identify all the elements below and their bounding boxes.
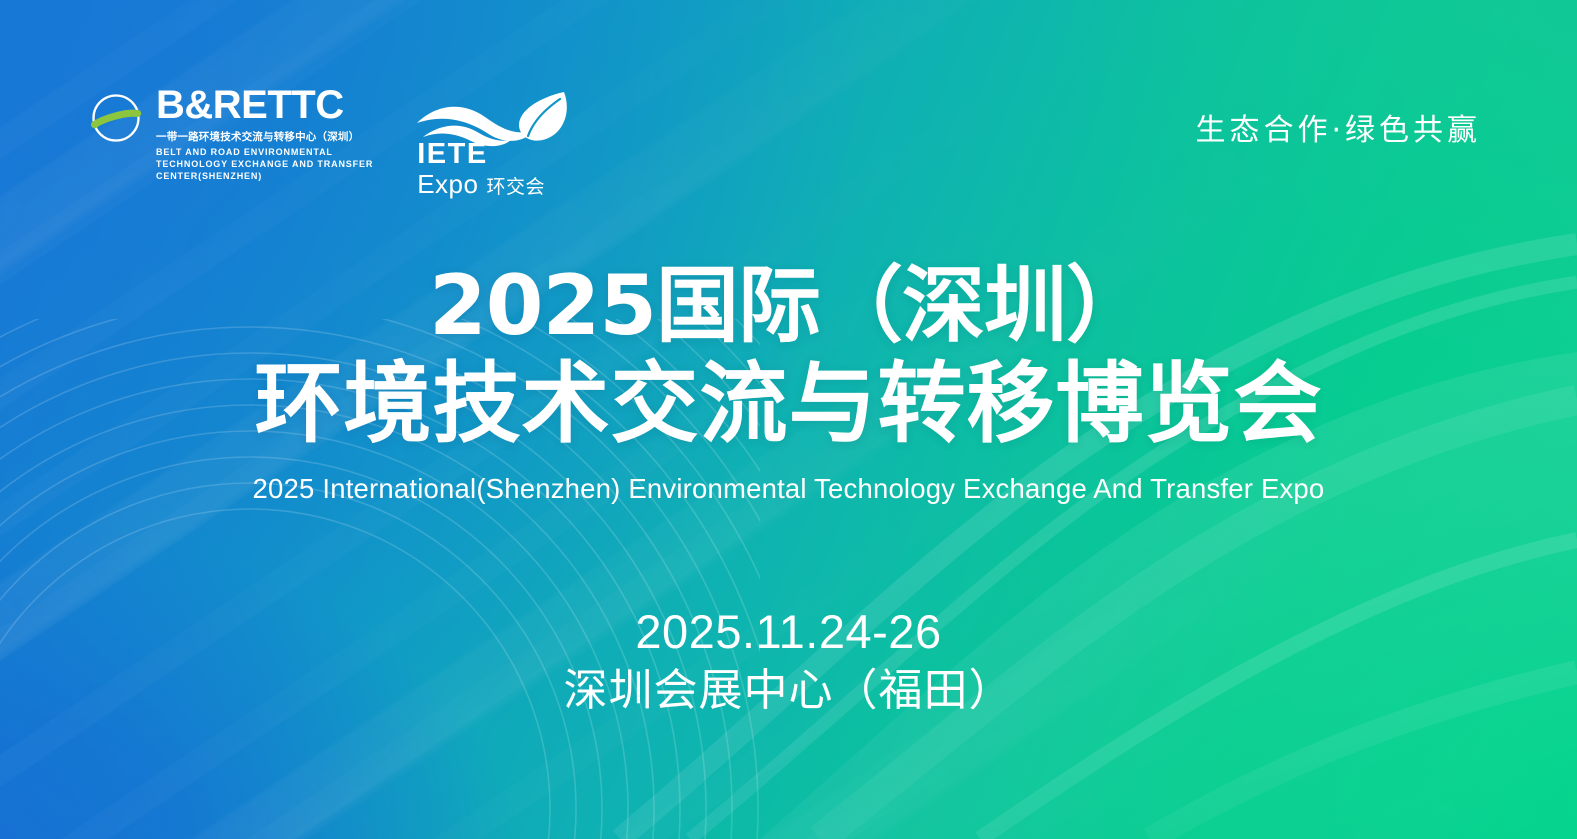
iete-wordmark: IETE [417,140,545,169]
title-line-1: 2025国际（深圳） [0,262,1577,350]
event-banner: B&RETTC 一带一路环境技术交流与转移中心（深圳） BELT AND ROA… [0,0,1577,839]
iete-text-block: IETE Expo 环交会 [417,140,545,199]
title-line-2: 环境技术交流与转移博览会 [0,356,1577,451]
event-venue: 深圳会展中心（福田） [0,663,1577,718]
iete-subline: Expo 环交会 [417,171,545,199]
brettc-english-line-2: TECHNOLOGY EXCHANGE AND TRANSFER [156,159,373,171]
main-title-block: 2025国际（深圳） 环境技术交流与转移博览会 2025 Internation… [0,262,1577,505]
iete-expo-label: Expo [417,171,478,197]
iete-chinese-name: 环交会 [486,172,545,199]
brettc-wordmark: B&RETTC [156,86,373,125]
subtitle-english: 2025 International(Shenzhen) Environment… [0,473,1577,505]
brettc-logo[interactable]: B&RETTC 一带一路环境技术交流与转移中心（深圳） BELT AND ROA… [88,86,373,183]
brettc-chinese-name: 一带一路环境技术交流与转移中心（深圳） [156,129,373,144]
brettc-text-block: B&RETTC 一带一路环境技术交流与转移中心（深圳） BELT AND ROA… [156,86,373,183]
iete-expo-logo[interactable]: IETE Expo 环交会 [413,90,571,194]
globe-icon [88,91,144,147]
event-date: 2025.11.24-26 [0,606,1577,659]
brettc-english-line-3: CENTER(SHENZHEN) [156,171,373,183]
brettc-english-line-1: BELT AND ROAD ENVIRONMENTAL [156,147,373,159]
tagline: 生态合作·绿色共赢 [1195,105,1481,149]
logo-row: B&RETTC 一带一路环境技术交流与转移中心（深圳） BELT AND ROA… [88,86,571,194]
brettc-english-name: BELT AND ROAD ENVIRONMENTAL TECHNOLOGY E… [156,147,373,183]
event-details-block: 2025.11.24-26 深圳会展中心（福田） [0,606,1577,718]
